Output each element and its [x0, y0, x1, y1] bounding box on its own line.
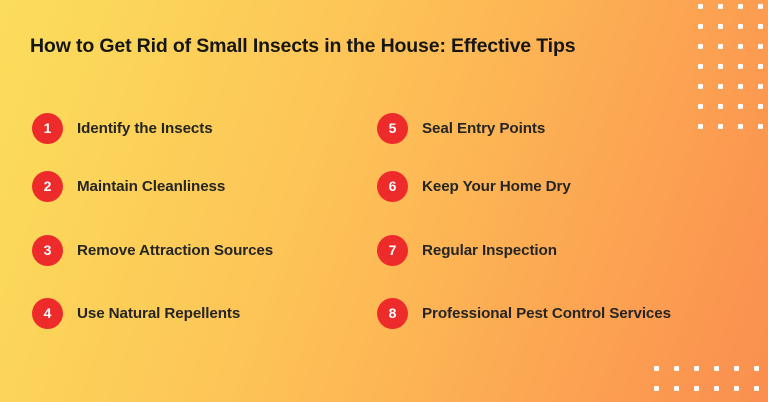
- tip-number-badge: 8: [377, 298, 408, 329]
- tip-item[interactable]: 2Maintain Cleanliness: [32, 170, 225, 202]
- tip-item[interactable]: 8Professional Pest Control Services: [377, 297, 671, 329]
- tip-item[interactable]: 6Keep Your Home Dry: [377, 170, 571, 202]
- tip-number-badge: 2: [32, 171, 63, 202]
- tip-item[interactable]: 5Seal Entry Points: [377, 112, 545, 144]
- tips-list: 1Identify the Insects2Maintain Cleanline…: [0, 0, 768, 402]
- infographic-canvas: How to Get Rid of Small Insects in the H…: [0, 0, 768, 402]
- tip-label: Identify the Insects: [77, 120, 213, 137]
- tip-number-badge: 3: [32, 235, 63, 266]
- tip-label: Keep Your Home Dry: [422, 178, 571, 195]
- tip-label: Use Natural Repellents: [77, 305, 240, 322]
- tip-item[interactable]: 4Use Natural Repellents: [32, 297, 240, 329]
- tip-item[interactable]: 3Remove Attraction Sources: [32, 234, 273, 266]
- tip-number-badge: 6: [377, 171, 408, 202]
- tip-label: Remove Attraction Sources: [77, 242, 273, 259]
- tip-label: Maintain Cleanliness: [77, 178, 225, 195]
- tip-number-badge: 5: [377, 113, 408, 144]
- tip-number-badge: 1: [32, 113, 63, 144]
- tip-label: Regular Inspection: [422, 242, 557, 259]
- tip-number-badge: 7: [377, 235, 408, 266]
- tip-number-badge: 4: [32, 298, 63, 329]
- tip-item[interactable]: 7Regular Inspection: [377, 234, 557, 266]
- tip-item[interactable]: 1Identify the Insects: [32, 112, 213, 144]
- tip-label: Professional Pest Control Services: [422, 305, 671, 322]
- tip-label: Seal Entry Points: [422, 120, 545, 137]
